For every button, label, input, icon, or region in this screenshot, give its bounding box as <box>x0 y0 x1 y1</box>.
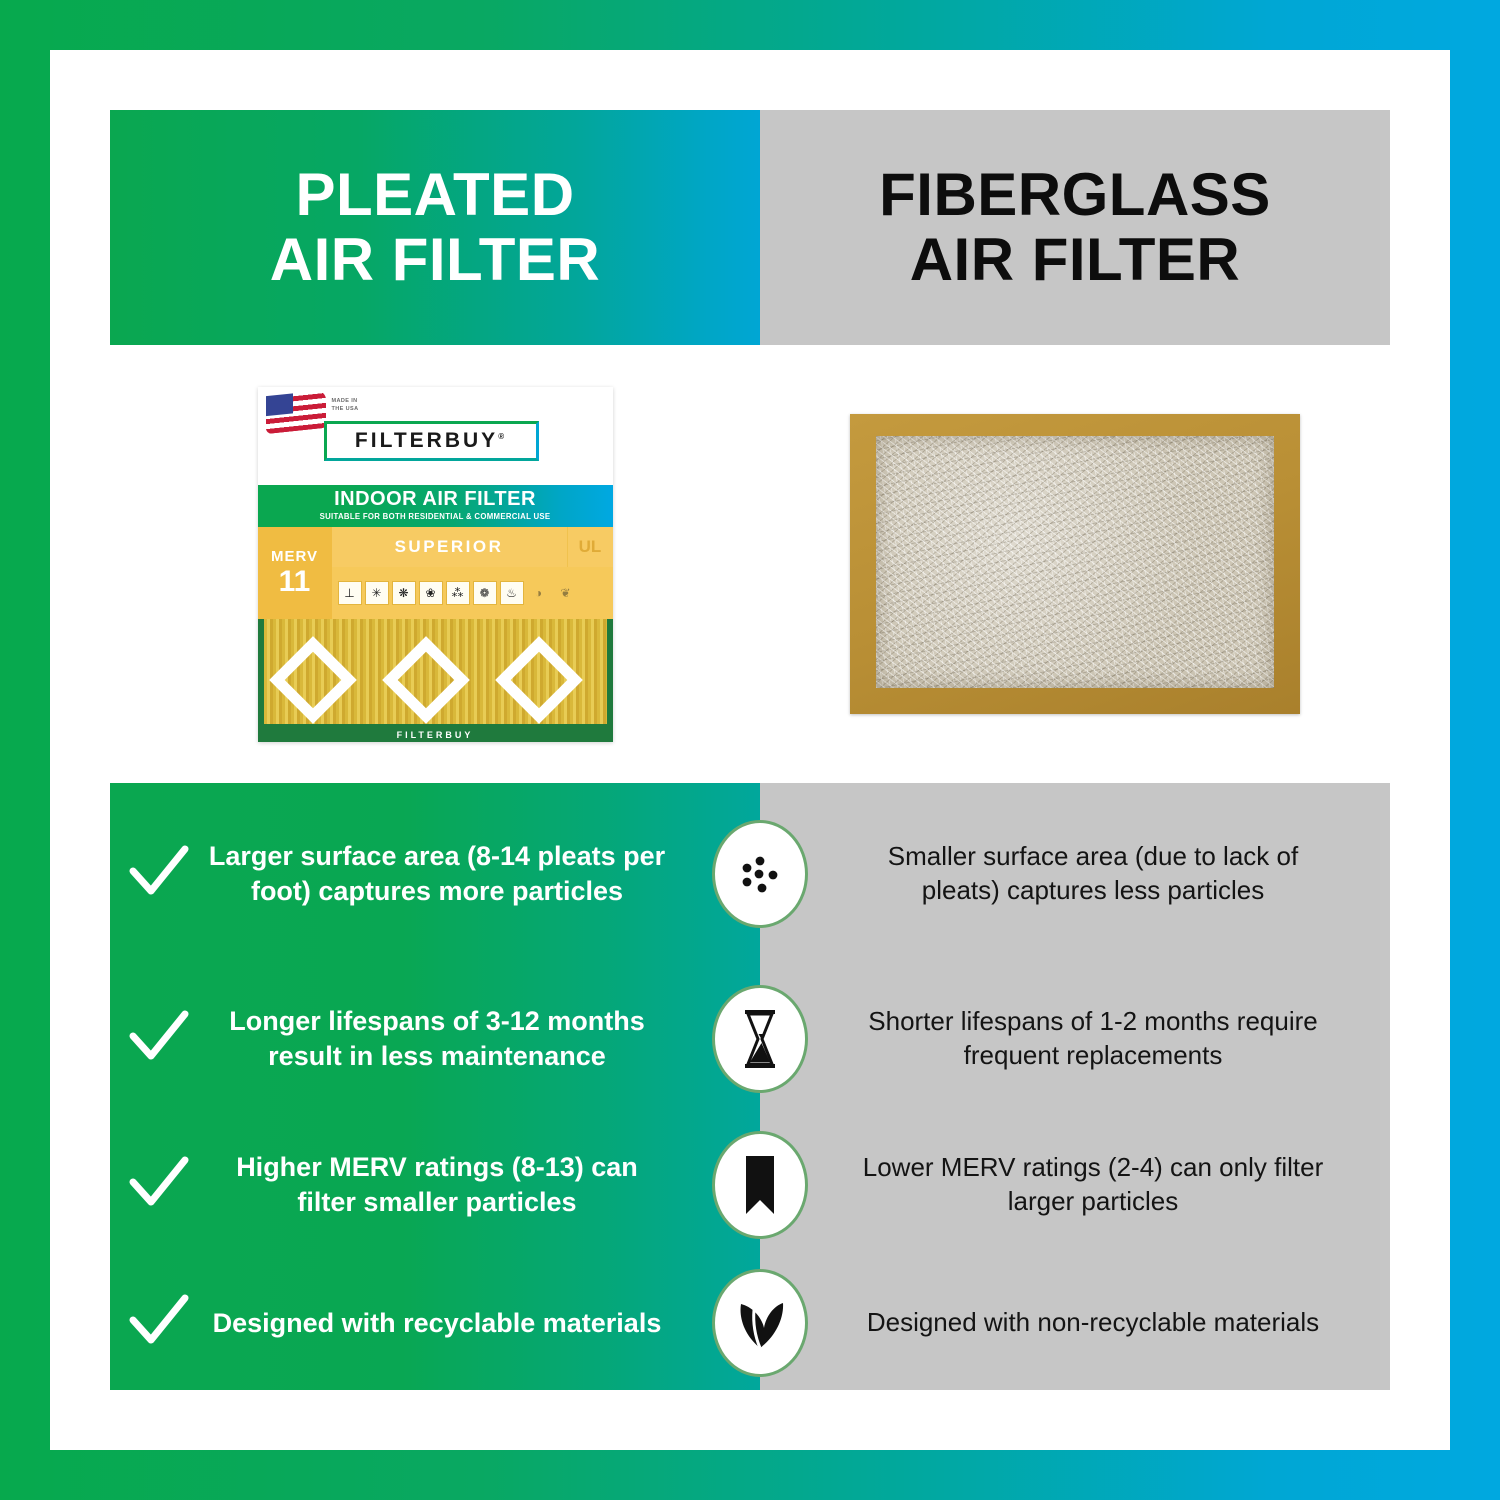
comparison-row: Larger surface area (8-14 pleats per foo… <box>110 783 1390 965</box>
bookmark-icon <box>712 1131 808 1239</box>
comparison-row: Designed with recyclable materials Desig… <box>110 1256 1390 1390</box>
row-pleated-cell: Designed with recyclable materials <box>110 1256 760 1390</box>
indoor-air-filter-band: INDOOR AIR FILTER SUITABLE FOR BOTH RESI… <box>258 485 613 527</box>
fiberglass-filter-graphic <box>850 414 1300 714</box>
comparison-table: Larger surface area (8-14 pleats per foo… <box>110 783 1390 1390</box>
comparison-row: Higher MERV ratings (8-13) can filter sm… <box>110 1113 1390 1256</box>
checkmark-icon <box>110 1292 206 1354</box>
smoke-icon: ♨ <box>500 581 524 605</box>
header-fiberglass-title: FIBERGLASS AIR FILTER <box>879 163 1271 293</box>
checkmark-icon <box>110 843 206 905</box>
checkmark-icon <box>110 1008 206 1070</box>
merv-section: MERV 11 SUPERIOR UL ⊥ ✳ ❋ <box>258 527 613 619</box>
pleated-filter-image-cell: MADE IN THE USA FILTERBUY® INDOOR AIR FI… <box>110 345 760 783</box>
tier-label: SUPERIOR <box>332 537 567 557</box>
header-row: PLEATED AIR FILTER FIBERGLASS AIR FILTER <box>110 110 1390 345</box>
fiberglass-filter-image-cell <box>760 345 1390 783</box>
dust-icon: ⊥ <box>338 581 362 605</box>
row-pleated-cell: Longer lifespans of 3-12 months result i… <box>110 965 760 1113</box>
made-in-usa-label: MADE IN THE USA <box>332 397 359 414</box>
merv-right-col: SUPERIOR UL ⊥ ✳ ❋ ❀ ⁂ ❁ ♨ <box>332 527 613 619</box>
filterbuy-logo-text: FILTERBUY® <box>355 429 507 453</box>
fiberglass-drawback-text: Designed with non-recyclable materials <box>867 1306 1319 1340</box>
band-subtitle: SUITABLE FOR BOTH RESIDENTIAL & COMMERCI… <box>258 512 613 521</box>
row-fiberglass-cell: Smaller surface area (due to lack of ple… <box>760 783 1390 965</box>
row-fiberglass-cell: Shorter lifespans of 1-2 months require … <box>760 965 1390 1113</box>
white-canvas: PLEATED AIR FILTER FIBERGLASS AIR FILTER… <box>50 50 1450 1450</box>
pleated-media-graphic: FILTERBUY <box>258 619 613 742</box>
fiberglass-drawback-text: Shorter lifespans of 1-2 months require … <box>852 1005 1334 1073</box>
hourglass-icon <box>712 985 808 1093</box>
tier-row: SUPERIOR UL <box>332 527 613 567</box>
odor-icon-faded: ❦ <box>554 581 578 605</box>
merv-value: 11 <box>279 567 311 597</box>
leaf-icon <box>712 1269 808 1377</box>
merv-label: MERV <box>271 548 318 565</box>
pollen-icon: ❋ <box>392 581 416 605</box>
ul-mark-icon: UL <box>567 527 613 567</box>
bacteria-icon: ⁂ <box>446 581 470 605</box>
comparison-row: Longer lifespans of 3-12 months result i… <box>110 965 1390 1113</box>
row-fiberglass-cell: Designed with non-recyclable materials <box>760 1256 1390 1390</box>
checkmark-icon <box>110 1154 206 1216</box>
header-pleated: PLEATED AIR FILTER <box>110 110 760 345</box>
header-pleated-title: PLEATED AIR FILTER <box>270 163 601 293</box>
merv-badge: MERV 11 <box>258 527 332 619</box>
row-pleated-cell: Higher MERV ratings (8-13) can filter sm… <box>110 1113 760 1256</box>
particles-icon <box>712 820 808 928</box>
fiberglass-drawback-text: Lower MERV ratings (2-4) can only filter… <box>852 1151 1334 1219</box>
row-pleated-cell: Larger surface area (8-14 pleats per foo… <box>110 783 760 965</box>
pet-dander-icon: ❁ <box>473 581 497 605</box>
filterbuy-logo: FILTERBUY® <box>324 421 539 461</box>
virus-icon-faded: ◑ <box>527 581 551 605</box>
pleated-benefit-text: Larger surface area (8-14 pleats per foo… <box>206 839 760 908</box>
band-title: INDOOR AIR FILTER <box>258 489 613 510</box>
header-fiberglass: FIBERGLASS AIR FILTER <box>760 110 1390 345</box>
pleated-benefit-text: Designed with recyclable materials <box>206 1306 760 1341</box>
pleated-benefit-text: Higher MERV ratings (8-13) can filter sm… <box>206 1150 760 1219</box>
product-images-row: MADE IN THE USA FILTERBUY® INDOOR AIR FI… <box>110 345 1390 783</box>
row-fiberglass-cell: Lower MERV ratings (2-4) can only filter… <box>760 1113 1390 1256</box>
pleated-benefit-text: Longer lifespans of 3-12 months result i… <box>206 1004 760 1073</box>
filter-box-top: MADE IN THE USA FILTERBUY® <box>258 387 613 485</box>
fiberglass-media-texture <box>876 436 1274 688</box>
mold-icon: ❀ <box>419 581 443 605</box>
pleated-filter-box: MADE IN THE USA FILTERBUY® INDOOR AIR FI… <box>258 387 613 742</box>
mite-icon: ✳ <box>365 581 389 605</box>
fiberglass-drawback-text: Smaller surface area (due to lack of ple… <box>852 840 1334 908</box>
outer-gradient-frame: PLEATED AIR FILTER FIBERGLASS AIR FILTER… <box>0 0 1500 1500</box>
feature-icon-strip: ⊥ ✳ ❋ ❀ ⁂ ❁ ♨ ◑ ❦ <box>332 567 613 619</box>
usa-flag-icon <box>266 389 326 433</box>
bottom-brand-label: FILTERBUY <box>258 730 613 740</box>
